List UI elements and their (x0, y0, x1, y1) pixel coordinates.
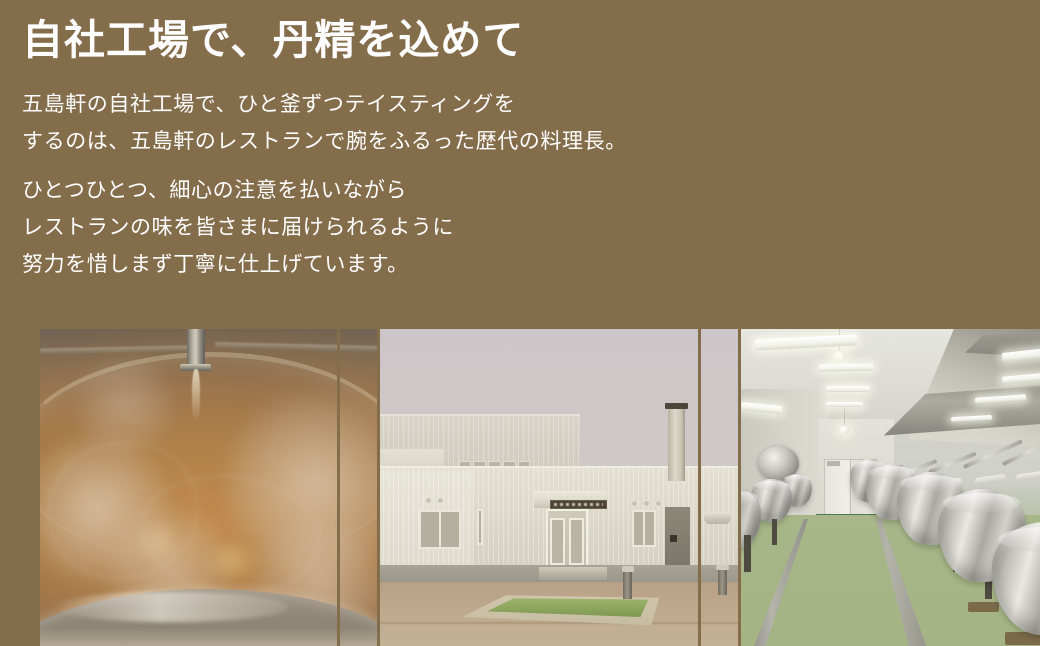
pendant-lamp-shape-1 (833, 351, 847, 362)
ceiling-light-shape-4 (826, 402, 863, 407)
ceiling-beam-right-shape (215, 342, 377, 352)
ceiling-light-shape-2 (819, 363, 873, 371)
factory-exterior-photo[interactable] (380, 329, 738, 646)
side-recess-shape (665, 507, 690, 570)
kettle-stand-shape-5 (772, 519, 777, 546)
intro-paragraph-1: 五島軒の自社工場で、ひと釜ずつテイスティングを するのは、五島軒のレストランで腕… (22, 86, 627, 160)
parking-lot-line-shape (380, 622, 738, 624)
entrance-doors-shape (546, 509, 587, 569)
sauce-drip-shape (192, 369, 200, 422)
page-title: 自社工場で、丹精を込めて (22, 14, 524, 67)
ceiling-light-shape-3 (826, 386, 870, 392)
page-root: 自社工場で、丹精を込めて 五島軒の自社工場で、ひと釜ずつテイスティングを するの… (0, 0, 1040, 646)
factory-interior-illustration (741, 329, 1040, 646)
facade-vent-dots-right-shape (631, 500, 662, 507)
bollard-light-shape-2 (718, 569, 727, 596)
mixer-paddle-shape-2 (975, 473, 1006, 484)
entrance-steps-shape (539, 567, 607, 580)
intro-header-band: 自社工場で、丹精を込めて 五島軒の自社工場で、ひと釜ずつテイスティングを するの… (0, 0, 1040, 313)
mixer-paddle-shape-1 (1015, 470, 1040, 482)
intro-paragraph-2: ひとつひとつ、細心の注意を払いながら レストランの味を皆さまに届けられるように … (22, 172, 454, 283)
gallery-gutter-1 (337, 313, 340, 646)
kettle-stand-shape-4 (744, 535, 751, 572)
intro-paragraph-1-line-1: 五島軒の自社工場で、ひと釜ずつテイスティングを (22, 86, 627, 123)
intro-paragraph-2-line-2: レストランの味を皆さまに届けられるように (22, 209, 454, 246)
kettle-rim-highlight-shape (53, 592, 289, 622)
kettle-scene-illustration (40, 329, 377, 646)
facade-window-slim-shape (477, 509, 483, 546)
facade-window-right-shape (632, 510, 655, 547)
gallery-gutter-2 (698, 313, 701, 646)
ceiling-beam-left-shape (40, 346, 188, 355)
intro-paragraph-2-line-1: ひとつひとつ、細心の注意を払いながら (22, 172, 454, 209)
steaming-kettle-photo[interactable] (40, 329, 377, 646)
door-sign-shape (827, 461, 839, 466)
intro-paragraph-2-line-3: 努力を惜しまず丁寧に仕上げています。 (22, 246, 454, 283)
side-service-door-shape (670, 535, 677, 542)
building-nameplate-sign (550, 500, 607, 509)
bollard-light-shape-1 (623, 570, 632, 598)
factory-exterior-illustration (380, 329, 738, 646)
intro-paragraph-1-line-2: するのは、五島軒のレストランで腕をふるった歴代の料理長。 (22, 123, 627, 160)
factory-interior-photo[interactable] (741, 329, 1040, 646)
photo-gallery-strip (0, 313, 1040, 646)
chimney-shape (668, 406, 684, 481)
steam-cloud-shape-5 (67, 356, 182, 456)
chimney-cap-shape (665, 403, 688, 408)
facade-vent-dots-left-shape (425, 497, 444, 504)
facade-window-left-shape (419, 510, 460, 548)
wall-vent-hood-shape (704, 512, 731, 524)
kettle-base-shape-2 (968, 602, 999, 612)
